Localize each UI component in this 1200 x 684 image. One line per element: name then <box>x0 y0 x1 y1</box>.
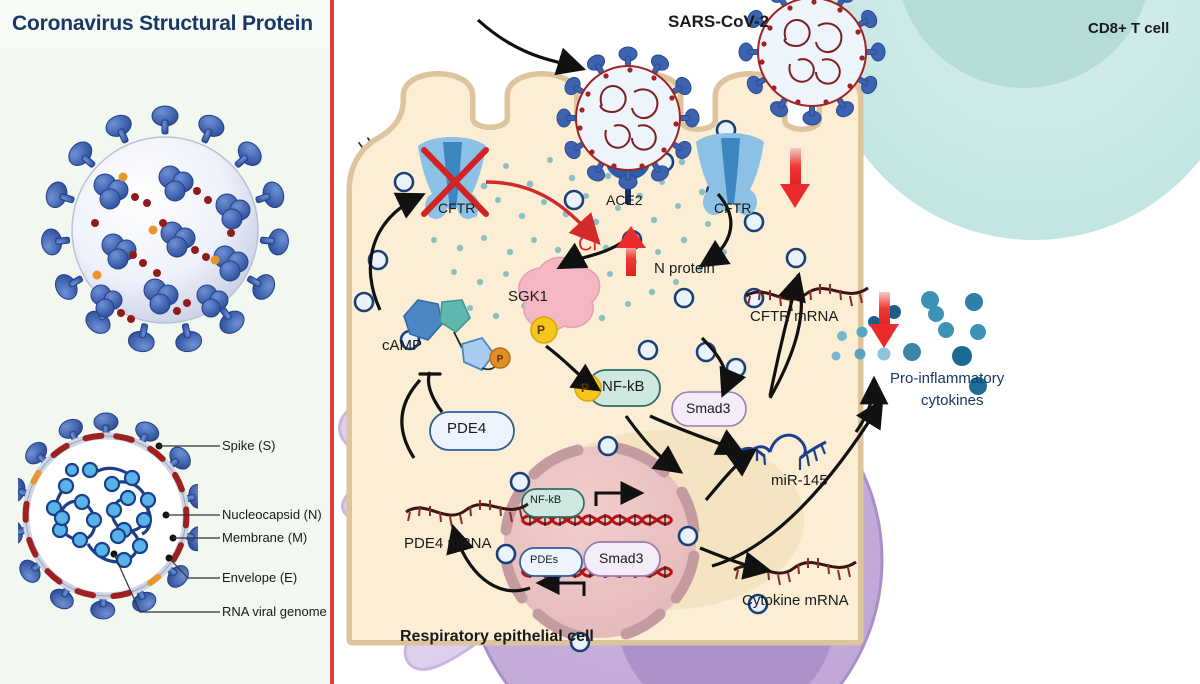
label-chloride-ion: Cl- <box>578 232 601 257</box>
label-sgk1-phospho: P <box>537 323 545 337</box>
chloride-charge: - <box>597 232 601 246</box>
label-smad3-cytoplasmic: Smad3 <box>686 400 730 416</box>
label-mir-145: miR-145 <box>771 472 828 489</box>
label-pro-inflammatory: Pro-inflammatory <box>890 370 1004 387</box>
label-n-protein: N protein <box>654 260 715 277</box>
label-sgk1: SGK1 <box>508 288 548 305</box>
label-cytokine-mrna: Cytokine mRNA <box>742 592 849 609</box>
diagram-root: Coronavirus Structural Protein <box>0 0 1200 684</box>
label-sars-cov-2: SARS-CoV-2 <box>668 12 769 32</box>
legend-item-membrane: Membrane (M) <box>222 530 307 545</box>
label-nucleus-nfkb: NF-kB <box>530 494 561 506</box>
label-ace2: ACE2 <box>606 192 643 208</box>
left-panel: Coronavirus Structural Protein <box>0 0 332 684</box>
legend-item-envelope: Envelope (E) <box>222 570 297 585</box>
legend-item-nucleocapsid: Nucleocapsid (N) <box>222 507 322 522</box>
svg-text:P: P <box>497 354 504 365</box>
label-nucleus-pdes: PDEs <box>530 554 558 566</box>
coronavirus-3d-illustration <box>35 105 295 355</box>
chloride-symbol: Cl <box>578 234 597 256</box>
legend-item-rna-genome: RNA viral genome <box>222 604 327 619</box>
label-dendritic-cell: Dendritic cell <box>1070 602 1170 620</box>
label-cftr-mrna: CFTR mRNA <box>750 308 838 325</box>
label-cftr-right: CFTR <box>714 200 751 216</box>
label-pde4-mrna: PDE4 mRNA <box>404 535 492 552</box>
label-nfkb-cytoplasmic: NF-kB <box>602 378 645 395</box>
label-nfkb-phospho: P <box>581 381 589 395</box>
pathway-scene: P <box>334 0 1200 684</box>
label-cd8-t-cell: CD8+ T cell <box>1088 20 1169 37</box>
label-camp: cAMP <box>382 337 422 354</box>
label-respiratory-epithelial-cell: Respiratory epithelial cell <box>400 628 594 646</box>
label-cftr-left: CFTR <box>438 200 475 216</box>
main-panel: P <box>334 0 1200 684</box>
page-title: Coronavirus Structural Protein <box>12 12 322 36</box>
label-pde4: PDE4 <box>447 420 486 437</box>
legend-item-spike: Spike (S) <box>222 438 275 453</box>
label-nucleus-smad3: Smad3 <box>599 550 643 566</box>
label-cytokines: cytokines <box>921 392 984 409</box>
